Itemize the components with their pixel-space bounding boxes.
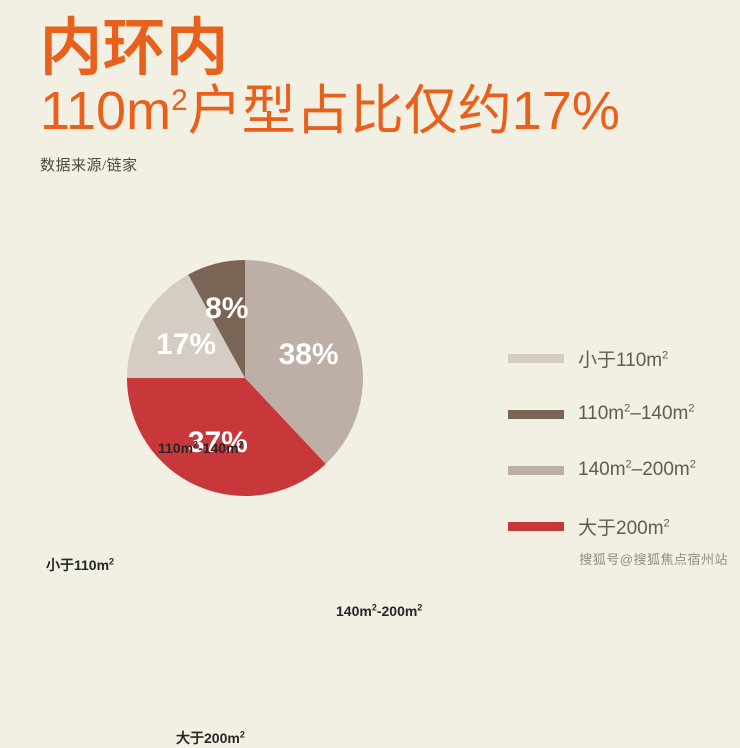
legend-label-sup: 2 [664,517,670,529]
legend-label: 110m2–140m2 [578,403,694,425]
label-sup2: 2 [417,602,422,612]
subtitle-superscript: 2 [171,84,188,117]
legend-item[interactable]: 小于110m2 [508,330,734,386]
legend-swatch [508,466,564,475]
pie-percent-label: 38% [279,338,339,371]
legend-label-text: 140m [578,459,626,480]
legend-swatch [508,410,564,419]
label-text: 110m [158,440,193,456]
legend-label-text: 小于110m [578,350,662,371]
header: 内环内 110m2户型占比仅约17% 数据来源/链家 [40,16,720,175]
watermark: 搜狐号@搜狐焦点宿州站 [579,549,728,568]
legend-item[interactable]: 110m2–140m2 [508,386,734,442]
pie-percent-label: 8% [205,292,248,325]
legend-label-sup: 2 [662,349,668,361]
chart-legend: 小于110m2110m2–140m2140m2–200m2大于200m2 [508,330,734,554]
legend-label-text: –200m [632,459,690,480]
label-text: 大于200m [176,730,240,746]
data-source-note: 数据来源/链家 [40,154,720,175]
label-sup: 2 [109,556,114,566]
legend-label-sup: 2 [688,403,694,415]
pie-chart-svg: 38%37%17%8% [0,215,500,555]
label-text-mid: -140m [198,440,238,456]
legend-label: 大于200m2 [578,513,670,540]
legend-label: 140m2–200m2 [578,459,696,481]
pie-percent-label: 17% [156,328,216,361]
subtitle-rest: 户型占比仅约17% [188,81,620,141]
legend-label-sup: 2 [690,459,696,471]
legend-label-text: –140m [630,403,688,424]
legend-item[interactable]: 140m2–200m2 [508,442,734,498]
pie-category-label-gt200: 大于200m2 [176,728,245,748]
page-title: 内环内 [40,16,720,82]
legend-swatch [508,354,564,363]
label-sup: 2 [240,729,245,739]
page-subtitle: 110m2户型占比仅约17% [40,80,720,142]
legend-label: 小于110m2 [578,345,668,372]
legend-item[interactable]: 大于200m2 [508,498,734,554]
pie-category-label-140-200: 140m2-200m2 [336,603,422,619]
pie-category-label-110-140: 110m2-140m2 [158,440,244,456]
label-text-mid: -200m [377,603,417,619]
legend-swatch [508,522,564,531]
label-sup2: 2 [239,439,244,449]
pie-category-label-lt110: 小于110m2 [46,555,114,575]
subtitle-prefix: 110m [40,81,171,141]
label-text: 140m [336,603,372,619]
pie-chart: 38%37%17%8% 110m2-140m2 小于110m2 140m2-20… [0,215,500,555]
legend-label-text: 110m [578,403,624,424]
label-text: 小于110m [46,557,109,573]
legend-label-text: 大于200m [578,518,664,539]
